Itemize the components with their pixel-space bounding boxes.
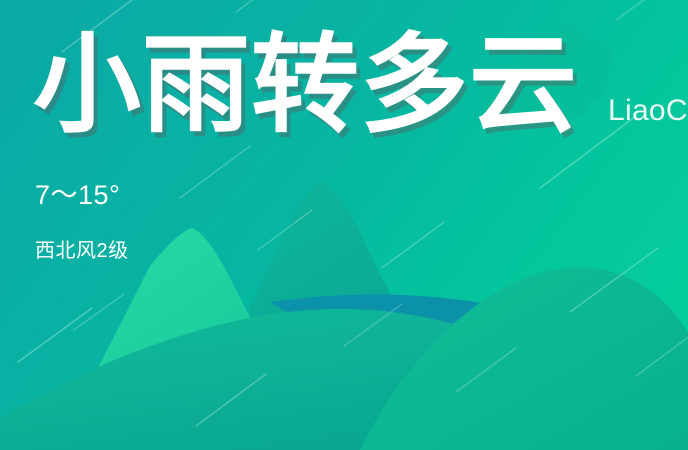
weather-text-layer: 小雨转多云 LiaoCh 7〜15° 西北风2级: [0, 0, 688, 450]
temperature-range-label: 7〜15°: [35, 182, 120, 209]
weather-condition-title: 小雨转多云: [33, 27, 578, 144]
wind-info-label: 西北风2级: [35, 241, 129, 261]
city-name-label: LiaoCh: [608, 96, 688, 126]
weather-card: 小雨转多云 LiaoCh 7〜15° 西北风2级: [0, 0, 688, 450]
